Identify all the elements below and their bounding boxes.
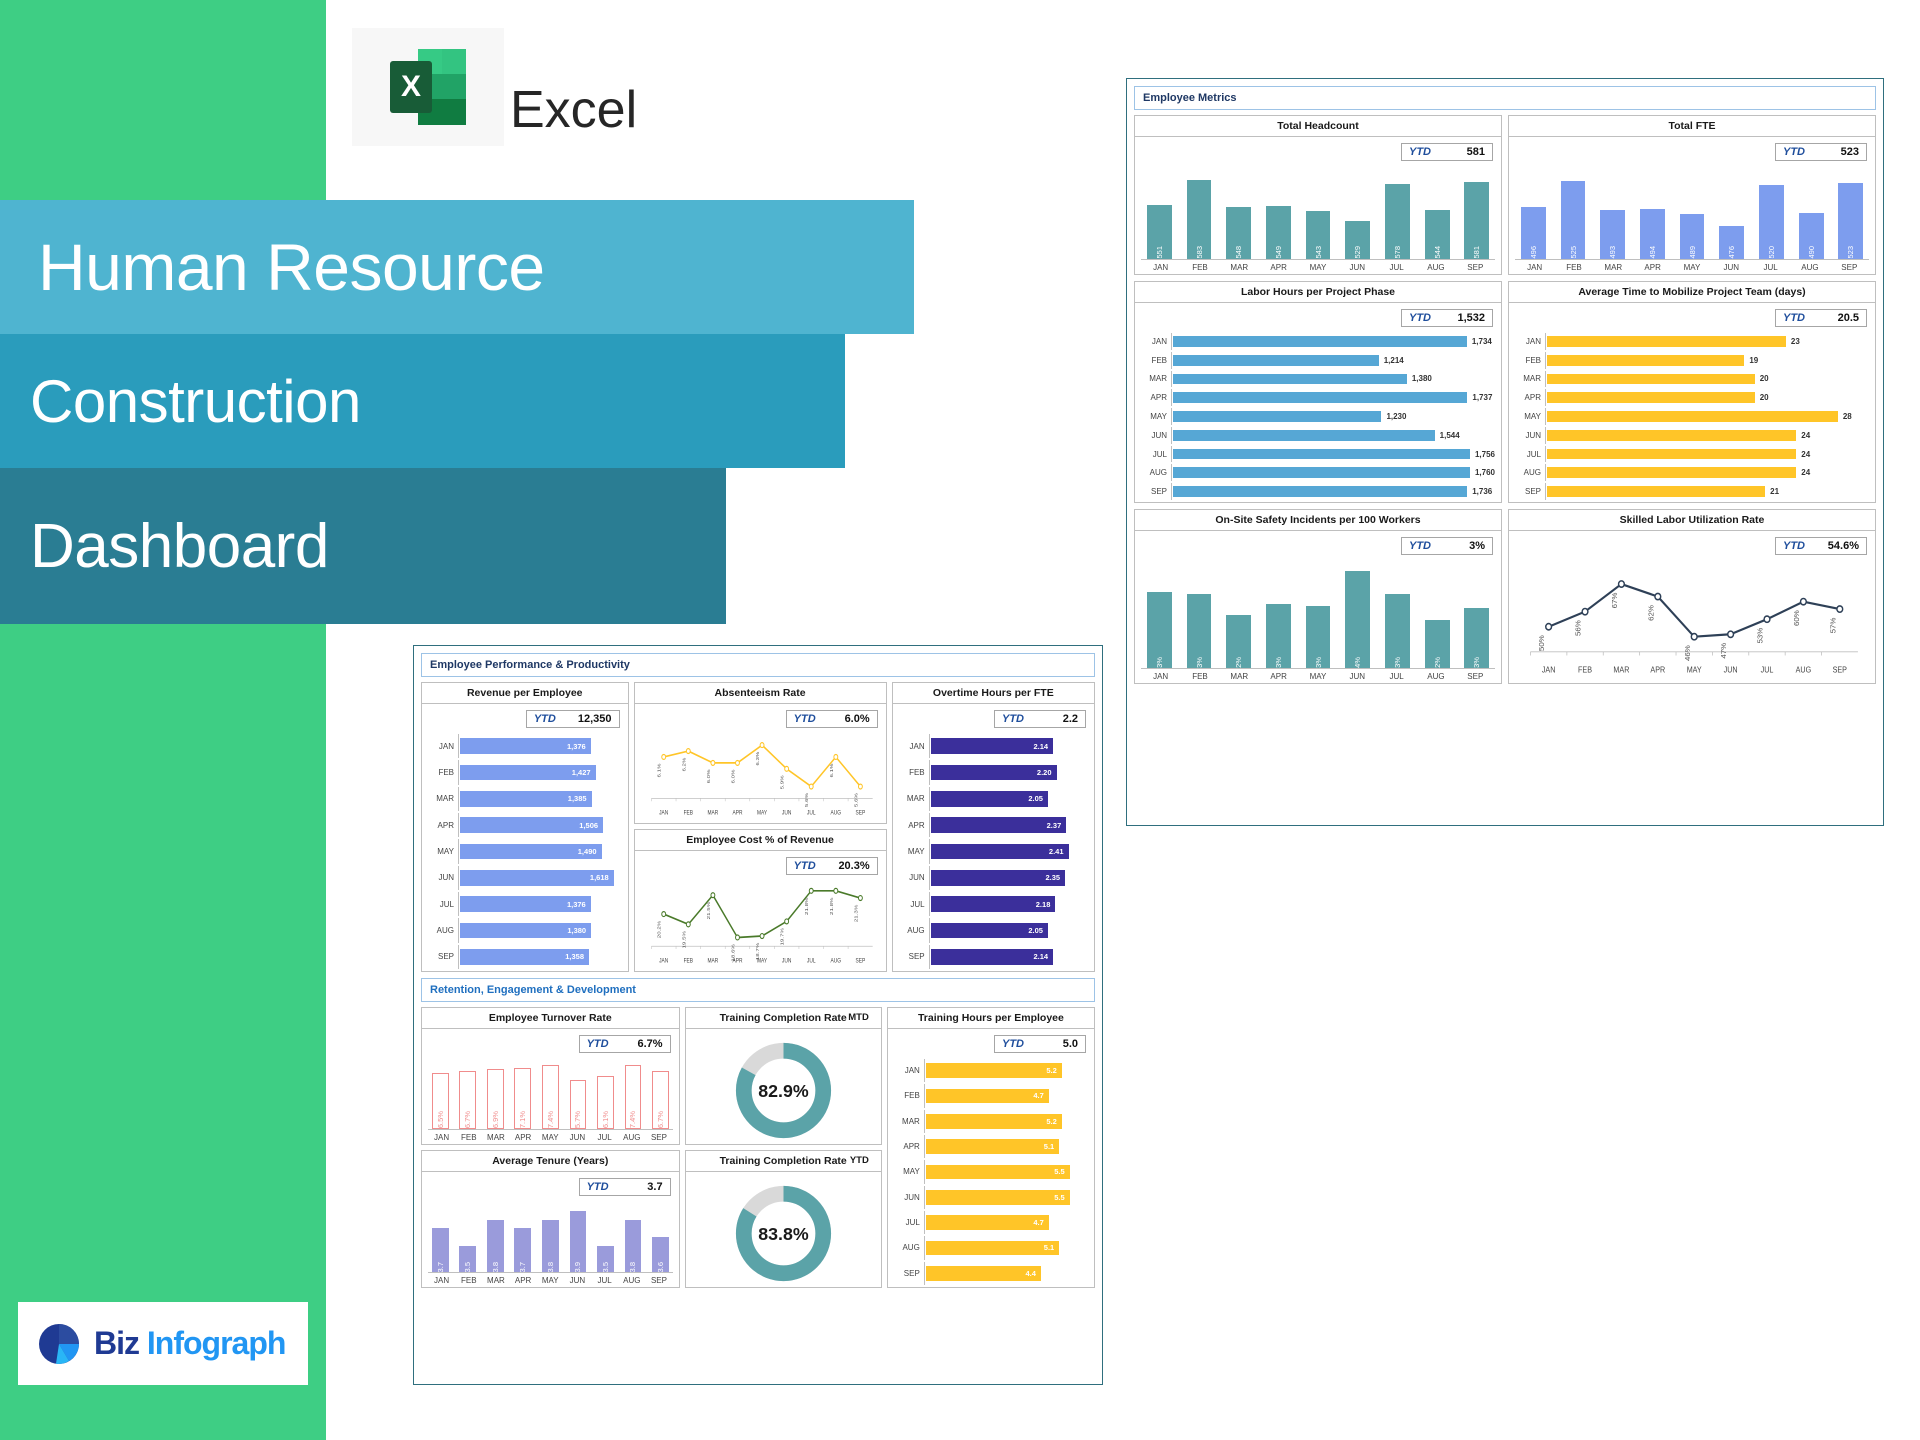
bar-column: 3% bbox=[1260, 561, 1297, 668]
axis-tick-label: JUN bbox=[894, 1193, 920, 1202]
bar-column: 525 bbox=[1555, 167, 1592, 259]
bar: 2.37 bbox=[931, 817, 1067, 833]
axis-tick-label: FEB bbox=[428, 768, 454, 777]
bar: 3% bbox=[1147, 592, 1172, 668]
data-point bbox=[1764, 616, 1770, 622]
data-label: 5.6% bbox=[804, 793, 809, 807]
data-label: 57% bbox=[1829, 617, 1838, 633]
bar-track: 1,756 bbox=[1171, 446, 1495, 463]
bar-row: JUN 1,618 bbox=[428, 866, 622, 890]
title-band-construction: Construction bbox=[0, 334, 845, 468]
bar-column: 3.7 bbox=[428, 1202, 453, 1272]
bar-value-label: 1,376 bbox=[567, 742, 591, 751]
data-point bbox=[858, 784, 862, 789]
bar: 2.05 bbox=[931, 923, 1048, 939]
bar-row: JUN 24 bbox=[1515, 427, 1869, 444]
axis-tick-label: MAR bbox=[1594, 260, 1633, 272]
ytd-indicator: YTD 3% bbox=[1401, 537, 1493, 555]
bar-value-label: 28 bbox=[1838, 412, 1852, 421]
bar-value-label: 2.05 bbox=[1028, 794, 1048, 803]
bar-column: 6.1% bbox=[593, 1059, 618, 1129]
bar-series: JAN 23 FEB 19 MAR 20 APR 20 MAY bbox=[1515, 307, 1869, 500]
bar: 4% bbox=[1345, 571, 1370, 668]
bar-value-label: 529 bbox=[1353, 243, 1362, 259]
bar-value-label: 1,380 bbox=[1407, 374, 1432, 383]
axis-tick-label: SEP bbox=[899, 952, 925, 961]
bar-row: SEP 2.14 bbox=[899, 945, 1088, 969]
bar-value-label: 1,214 bbox=[1379, 356, 1404, 365]
axis-tick-label: FEB bbox=[683, 810, 693, 817]
bar: 493 bbox=[1600, 210, 1625, 259]
bar-value-label: 7.4% bbox=[546, 1108, 555, 1128]
bar-row: JAN 23 bbox=[1515, 333, 1869, 350]
data-label: 50% bbox=[1538, 635, 1547, 651]
axis-tick-label: AUG bbox=[830, 810, 841, 817]
bar-value-label: 2% bbox=[1234, 654, 1243, 668]
axis-tick-label: JUL bbox=[428, 900, 454, 909]
bar-column: 549 bbox=[1260, 167, 1297, 259]
bar: 1,376 bbox=[460, 896, 591, 912]
chart-card: Average Time to Mobilize Project Team (d… bbox=[1508, 281, 1876, 503]
data-point bbox=[1546, 624, 1552, 630]
bar-series: JAN 5.2 FEB 4.7 MAR 5.2 APR 5.1 MAY 5 bbox=[894, 1033, 1088, 1285]
bar: 3% bbox=[1187, 594, 1212, 668]
bar-value-label: 24 bbox=[1796, 468, 1810, 477]
bar: 5.7% bbox=[570, 1080, 587, 1129]
bar-track: 2.37 bbox=[929, 813, 1088, 837]
bar: 4.7 bbox=[926, 1215, 1049, 1230]
chart-card: Skilled Labor Utilization Rate YTD 54.6%… bbox=[1508, 509, 1876, 684]
bar-value-label: 490 bbox=[1807, 243, 1816, 259]
chart-title: Employee Cost % of Revenue bbox=[635, 830, 886, 851]
bar-track: 1,737 bbox=[1171, 389, 1495, 406]
axis-tick-label: APR bbox=[510, 1273, 537, 1285]
bar-value-label: 6.1% bbox=[601, 1108, 610, 1128]
bar-track: 1,736 bbox=[1171, 483, 1495, 500]
bar-column: 7.1% bbox=[511, 1059, 536, 1129]
bar: 4.4 bbox=[926, 1266, 1041, 1281]
ytd-indicator: YTD 20.5 bbox=[1775, 309, 1867, 327]
axis-tick-label: AUG bbox=[899, 926, 925, 935]
bar-value-label: 24 bbox=[1796, 431, 1810, 440]
bar-row: SEP 4.4 bbox=[894, 1262, 1088, 1285]
data-point bbox=[760, 934, 764, 939]
axis-tick-label: FEB bbox=[1554, 260, 1593, 272]
axis-tick-label: AUG bbox=[1796, 665, 1812, 674]
bar-value-label: 24 bbox=[1796, 450, 1810, 459]
axis-tick-label: JAN bbox=[659, 810, 668, 817]
bar-series: JAN 1,734 FEB 1,214 MAR 1,380 APR 1,737 … bbox=[1141, 307, 1495, 500]
bar-value-label: 2.35 bbox=[1046, 873, 1066, 882]
chart-card: Employee Turnover Rate YTD 6.7% 6.5% 6.7… bbox=[421, 1007, 680, 1145]
bar: 6.7% bbox=[459, 1071, 476, 1129]
bar: 6.1% bbox=[597, 1076, 614, 1129]
axis-tick-label: MAR bbox=[482, 1273, 509, 1285]
bar-value-label: 544 bbox=[1433, 243, 1442, 259]
axis-tick-label: APR bbox=[1259, 260, 1298, 272]
axis-tick-label: JUL bbox=[1751, 260, 1790, 272]
chart-card: Total FTE YTD 523 496 525 493 494 489 47… bbox=[1508, 115, 1876, 275]
logo-text-biz: Biz bbox=[94, 1325, 139, 1361]
bar: 489 bbox=[1680, 214, 1705, 259]
bar-value-label: 494 bbox=[1648, 243, 1657, 259]
period-suffix: YTD bbox=[850, 1155, 869, 1166]
axis-tick-label: AUG bbox=[894, 1243, 920, 1252]
axis-tick-label: AUG bbox=[1790, 260, 1829, 272]
axis-tick-label: JAN bbox=[1542, 665, 1556, 674]
ytd-value: 2.2 bbox=[1063, 713, 1078, 725]
section-title-employee-metrics: Employee Metrics bbox=[1134, 86, 1876, 110]
bar-track: 1,385 bbox=[458, 787, 622, 811]
employee-metrics-panel: Employee Metrics Total Headcount YTD 581… bbox=[1126, 78, 1884, 826]
bar-row: JUN 5.5 bbox=[894, 1186, 1088, 1209]
bar bbox=[1173, 355, 1379, 366]
bar-value-label: 4.7 bbox=[1033, 1218, 1048, 1227]
bar: 2.35 bbox=[931, 870, 1065, 886]
bar-column: 3.9 bbox=[566, 1202, 591, 1272]
axis-tick-label: FEB bbox=[1141, 356, 1167, 365]
data-point bbox=[833, 755, 837, 760]
bar-value-label: 583 bbox=[1195, 243, 1204, 259]
axis-tick-label: JAN bbox=[894, 1066, 920, 1075]
bar-column: 543 bbox=[1300, 167, 1337, 259]
bar: 476 bbox=[1719, 226, 1744, 259]
bar-column: 496 bbox=[1515, 167, 1552, 259]
chart-card: Labor Hours per Project Phase YTD 1,532 … bbox=[1134, 281, 1502, 503]
bar-value-label: 523 bbox=[1846, 243, 1855, 259]
bar-value-label: 496 bbox=[1529, 243, 1538, 259]
ytd-indicator: YTD 523 bbox=[1775, 143, 1867, 161]
bar-column: 6.5% bbox=[428, 1059, 453, 1129]
axis-tick-label: FEB bbox=[1515, 356, 1541, 365]
axis-tick-label: SEP bbox=[1456, 669, 1495, 681]
bar-value-label: 1,760 bbox=[1470, 468, 1495, 477]
bar-row: JUL 24 bbox=[1515, 446, 1869, 463]
bar-track: 23 bbox=[1545, 333, 1869, 350]
axis-tick-label: AUG bbox=[428, 926, 454, 935]
performance-middle-stack: Absenteeism Rate YTD 6.0% 6.1%6.2%6.0%6.… bbox=[634, 682, 887, 972]
bar-value-label: 2.14 bbox=[1033, 742, 1053, 751]
axis-tick-label: APR bbox=[1633, 260, 1672, 272]
bar: 2.41 bbox=[931, 844, 1069, 860]
bar-value-label: 578 bbox=[1393, 243, 1402, 259]
axis-tick-label: MAY bbox=[1141, 412, 1167, 421]
bar: 1,506 bbox=[460, 817, 603, 833]
data-point bbox=[735, 760, 739, 765]
bar-column: 3% bbox=[1300, 561, 1337, 668]
data-label: 5.9% bbox=[780, 775, 785, 789]
bar-value-label: 5.1 bbox=[1044, 1142, 1059, 1151]
data-label: 19.5% bbox=[681, 931, 686, 949]
bar bbox=[1547, 467, 1796, 478]
bar-track: 2.14 bbox=[929, 945, 1088, 969]
bar bbox=[1173, 392, 1467, 403]
chart-body: YTD 1,532 JAN 1,734 FEB 1,214 MAR 1,380 … bbox=[1135, 303, 1501, 502]
bar-track: 2.18 bbox=[929, 892, 1088, 916]
retention-row: Employee Turnover Rate YTD 6.7% 6.5% 6.7… bbox=[421, 1007, 1095, 1288]
bar: 496 bbox=[1521, 207, 1546, 259]
bar-track: 4.4 bbox=[924, 1262, 1088, 1285]
excel-wordmark: Excel bbox=[510, 80, 637, 140]
axis-tick-label: MAY bbox=[1298, 669, 1337, 681]
bar-value-label: 548 bbox=[1234, 243, 1243, 259]
axis-tick-label: FEB bbox=[455, 1130, 482, 1142]
bar-value-label: 3% bbox=[1195, 654, 1204, 668]
bar: 525 bbox=[1561, 181, 1586, 259]
bar-value-label: 3.6 bbox=[656, 1259, 665, 1272]
donut-wrapper: 83.8% bbox=[692, 1176, 875, 1291]
bar-value-label: 3% bbox=[1274, 654, 1283, 668]
bar-value-label: 3% bbox=[1314, 654, 1323, 668]
data-point bbox=[833, 888, 837, 893]
ytd-value: 3% bbox=[1469, 540, 1485, 552]
axis-tick-label: SEP bbox=[645, 1130, 672, 1142]
data-point bbox=[735, 935, 739, 940]
x-axis-labels: JANFEBMARAPRMAYJUNJULAUGSEP bbox=[428, 1130, 673, 1142]
bar: 548 bbox=[1226, 207, 1251, 259]
bar: 2.18 bbox=[931, 896, 1056, 912]
axis-tick-label: JAN bbox=[1141, 669, 1180, 681]
bar: 5.2 bbox=[926, 1114, 1062, 1129]
axis-tick-label: APR bbox=[732, 958, 742, 965]
ytd-indicator: YTD 12,350 bbox=[526, 710, 620, 728]
axis-tick-label: JUL bbox=[1515, 450, 1541, 459]
bar-track: 24 bbox=[1545, 464, 1869, 481]
bar-row: FEB 1,427 bbox=[428, 760, 622, 784]
bar-track: 1,734 bbox=[1171, 333, 1495, 350]
bar-track: 20 bbox=[1545, 371, 1869, 388]
bar-row: AUG 24 bbox=[1515, 464, 1869, 481]
data-point bbox=[1801, 599, 1807, 605]
donut-wrapper: 82.9% bbox=[692, 1033, 875, 1148]
retention-middle-stack: Training Completion RateMTD 82.9% Traini… bbox=[685, 1007, 882, 1288]
chart-body: YTD 2.2 JAN 2.14 FEB 2.20 MAR 2.05 APR 2… bbox=[893, 704, 1094, 971]
bar-value-label: 5.7% bbox=[573, 1108, 582, 1128]
axis-tick-label: AUG bbox=[1515, 468, 1541, 477]
bar-track: 1,618 bbox=[458, 866, 622, 890]
title-line-2: Construction bbox=[0, 367, 361, 436]
data-point bbox=[661, 755, 665, 760]
bar-row: APR 1,737 bbox=[1141, 389, 1495, 406]
bar-row: APR 20 bbox=[1515, 389, 1869, 406]
axis-tick-label: JUL bbox=[1761, 665, 1774, 674]
bar bbox=[1547, 336, 1786, 347]
bar-value-label: 23 bbox=[1786, 337, 1800, 346]
bar-value-label: 6.7% bbox=[656, 1108, 665, 1128]
data-label: 46% bbox=[1683, 645, 1692, 661]
chart-title: Average Tenure (Years) bbox=[422, 1151, 679, 1172]
bar: 494 bbox=[1640, 209, 1665, 259]
bar: 549 bbox=[1266, 206, 1291, 259]
bar-column: 583 bbox=[1181, 167, 1218, 259]
bar: 523 bbox=[1838, 183, 1863, 259]
chart-body: YTD 523 496 525 493 494 489 476 520 bbox=[1509, 137, 1875, 274]
axis-tick-label: MAR bbox=[1613, 665, 1629, 674]
bar-track: 21 bbox=[1545, 483, 1869, 500]
bar: 2.20 bbox=[931, 765, 1057, 781]
bar-track: 24 bbox=[1545, 446, 1869, 463]
axis-tick-label: MAY bbox=[1687, 665, 1702, 674]
data-label: 53% bbox=[1756, 627, 1765, 643]
pie-chart-icon bbox=[36, 1321, 82, 1367]
biz-infograph-logo: Biz Infograph bbox=[18, 1302, 308, 1385]
bar-track: 24 bbox=[1545, 427, 1869, 444]
bar-value-label: 4.7 bbox=[1033, 1091, 1048, 1100]
bar-track: 2.05 bbox=[929, 787, 1088, 811]
axis-tick-label: APR bbox=[1515, 393, 1541, 402]
chart-card: Average Tenure (Years) YTD 3.7 3.7 3.5 3… bbox=[421, 1150, 680, 1288]
chart-body: YTD 3% 3% 3% 2% 3% 3% 4% 3% bbox=[1135, 531, 1501, 683]
bar-column: 6.7% bbox=[648, 1059, 673, 1129]
bar: 2% bbox=[1226, 615, 1251, 669]
bar-value-label: 2.20 bbox=[1037, 768, 1057, 777]
data-point bbox=[686, 922, 690, 927]
donut-chart: 82.9% bbox=[726, 1033, 841, 1148]
bar-value-label: 3.9 bbox=[573, 1259, 582, 1272]
bar-row: MAR 5.2 bbox=[894, 1110, 1088, 1133]
axis-tick-label: JUN bbox=[1338, 669, 1377, 681]
axis-tick-label: JUL bbox=[899, 900, 925, 909]
bar-column: 3.7 bbox=[511, 1202, 536, 1272]
bar-track: 5.5 bbox=[924, 1186, 1088, 1209]
ytd-indicator: YTD 2.2 bbox=[994, 710, 1086, 728]
data-label: 21.3% bbox=[853, 905, 858, 923]
bar bbox=[1547, 411, 1838, 422]
bar-value-label: 3.5 bbox=[601, 1259, 610, 1272]
bar-value-label: 5.2 bbox=[1046, 1066, 1061, 1075]
axis-tick-label: MAR bbox=[1220, 669, 1259, 681]
bar-row: JUN 1,544 bbox=[1141, 427, 1495, 444]
bar-value-label: 3.7 bbox=[436, 1259, 445, 1272]
axis-tick-label: JUN bbox=[1338, 260, 1377, 272]
chart-title: Skilled Labor Utilization Rate bbox=[1509, 510, 1875, 531]
bar bbox=[1173, 467, 1470, 478]
axis-tick-label: SEP bbox=[1830, 260, 1869, 272]
bar-row: AUG 1,760 bbox=[1141, 464, 1495, 481]
bar-value-label: 6.5% bbox=[436, 1108, 445, 1128]
bar: 1,618 bbox=[460, 870, 614, 886]
bar-value-label: 7.1% bbox=[518, 1108, 527, 1128]
bar-value-label: 2.41 bbox=[1049, 847, 1069, 856]
axis-tick-label: SEP bbox=[1141, 487, 1167, 496]
bar-track: 1,544 bbox=[1171, 427, 1495, 444]
svg-text:X: X bbox=[401, 70, 421, 103]
bar-row: APR 5.1 bbox=[894, 1135, 1088, 1158]
data-label: 6.1% bbox=[657, 763, 662, 777]
bar-column: 3.5 bbox=[456, 1202, 481, 1272]
performance-row: Revenue per Employee YTD 12,350 JAN 1,37… bbox=[421, 682, 1095, 972]
data-label: 56% bbox=[1574, 620, 1583, 636]
data-point bbox=[686, 749, 690, 754]
ytd-value: 1,532 bbox=[1457, 312, 1485, 324]
title-line-1: Human Resource bbox=[0, 229, 545, 305]
axis-tick-label: JUL bbox=[591, 1273, 618, 1285]
data-label: 5.6% bbox=[853, 793, 858, 807]
ytd-value: 6.0% bbox=[845, 713, 870, 725]
axis-tick-label: JUN bbox=[781, 810, 790, 817]
x-axis-labels: JANFEBMARAPRMAYJUNJULAUGSEP bbox=[1141, 260, 1495, 272]
bar-row: MAY 1,490 bbox=[428, 839, 622, 863]
bar-value-label: 6.9% bbox=[491, 1108, 500, 1128]
axis-tick-label: MAY bbox=[1515, 412, 1541, 421]
bar-value-label: 1,734 bbox=[1467, 337, 1492, 346]
bar-track: 2.41 bbox=[929, 839, 1088, 863]
bar-track: 1,380 bbox=[1171, 371, 1495, 388]
axis-tick-label: AUG bbox=[618, 1273, 645, 1285]
data-point bbox=[809, 784, 813, 789]
ytd-indicator: YTD 581 bbox=[1401, 143, 1493, 161]
axis-tick-label: SEP bbox=[894, 1269, 920, 1278]
bar-track: 5.1 bbox=[924, 1236, 1088, 1259]
bar-value-label: 1,380 bbox=[567, 926, 591, 935]
excel-icon: X bbox=[380, 39, 476, 135]
axis-tick-label: APR bbox=[510, 1130, 537, 1142]
ytd-value: 20.3% bbox=[838, 860, 869, 872]
chart-card: On-Site Safety Incidents per 100 Workers… bbox=[1134, 509, 1502, 684]
bar-value-label: 520 bbox=[1767, 243, 1776, 259]
bar: 3.8 bbox=[487, 1220, 504, 1273]
bar-value-label: 476 bbox=[1727, 243, 1736, 259]
chart-body: YTD 20.3% 20.2%19.5%21.5%18.6%18.7%19.7%… bbox=[635, 851, 886, 971]
bar-track: 20 bbox=[1545, 389, 1869, 406]
axis-tick-label: JUL bbox=[591, 1130, 618, 1142]
axis-tick-label: APR bbox=[1141, 393, 1167, 402]
bar-value-label: 7.4% bbox=[628, 1108, 637, 1128]
bar-value-label: 3% bbox=[1472, 654, 1481, 668]
bar-track: 1,506 bbox=[458, 813, 622, 837]
bar-column: 7.4% bbox=[538, 1059, 563, 1129]
bar-value-label: 1,544 bbox=[1435, 431, 1460, 440]
bar: 5.1 bbox=[926, 1139, 1059, 1154]
chart-card: Employee Cost % of Revenue YTD 20.3% 20.… bbox=[634, 829, 887, 972]
bar-column: 493 bbox=[1594, 167, 1631, 259]
chart-title: Total FTE bbox=[1509, 116, 1875, 137]
bar-row: JUL 4.7 bbox=[894, 1211, 1088, 1234]
bar: 5.5 bbox=[926, 1190, 1070, 1205]
axis-tick-label: FEB bbox=[899, 768, 925, 777]
section-title-performance: Employee Performance & Productivity bbox=[421, 653, 1095, 677]
chart-body: YTD 6.7% 6.5% 6.7% 6.9% 7.1% 7.4% 5.7% bbox=[422, 1029, 679, 1144]
axis-tick-label: AUG bbox=[830, 958, 841, 965]
bar-column: 3.8 bbox=[621, 1202, 646, 1272]
axis-tick-label: MAY bbox=[899, 847, 925, 856]
bar-column: 5.7% bbox=[566, 1059, 591, 1129]
data-label: 21.8% bbox=[804, 897, 809, 915]
data-label: 6.3% bbox=[755, 752, 760, 766]
axis-tick-label: MAY bbox=[428, 847, 454, 856]
axis-tick-label: MAR bbox=[1515, 374, 1541, 383]
bar-value-label: 2.14 bbox=[1033, 952, 1053, 961]
bar-column: 3.6 bbox=[648, 1202, 673, 1272]
bar-value-label: 3.7 bbox=[518, 1259, 527, 1272]
bar-row: AUG 1,380 bbox=[428, 918, 622, 942]
bar-row: JUL 1,376 bbox=[428, 892, 622, 916]
bar-value-label: 3.8 bbox=[546, 1259, 555, 1272]
bar-value-label: 1,490 bbox=[578, 847, 602, 856]
period-suffix: MTD bbox=[848, 1012, 869, 1023]
ytd-indicator: YTD 54.6% bbox=[1775, 537, 1867, 555]
bar-column: 520 bbox=[1753, 167, 1790, 259]
data-point bbox=[710, 893, 714, 898]
bar-value-label: 5.5 bbox=[1054, 1193, 1069, 1202]
bar-column: 4% bbox=[1339, 561, 1376, 668]
bar-row: MAR 1,380 bbox=[1141, 371, 1495, 388]
bar-column: 529 bbox=[1339, 167, 1376, 259]
bar-row: SEP 1,736 bbox=[1141, 483, 1495, 500]
bar bbox=[1547, 449, 1796, 460]
axis-tick-label: JUN bbox=[564, 1130, 591, 1142]
bar: 3% bbox=[1464, 608, 1489, 668]
